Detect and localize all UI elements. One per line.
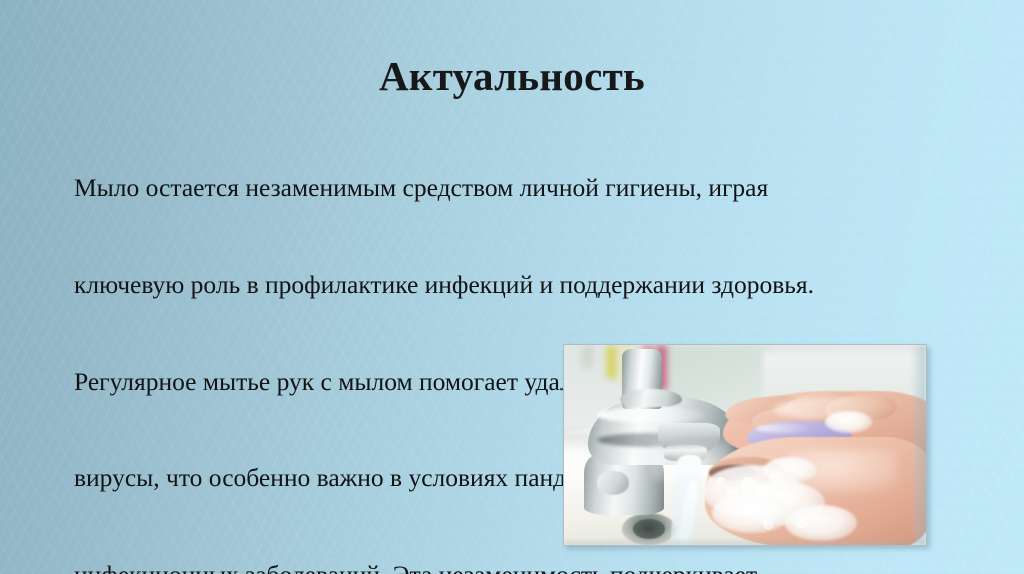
soap-foam bbox=[712, 493, 792, 533]
faucet-highlight bbox=[597, 407, 706, 423]
photo-background-item bbox=[582, 345, 593, 369]
body-line: Мыло остается незаменимым средством личн… bbox=[74, 172, 964, 204]
faucet-front-handle bbox=[597, 471, 630, 495]
body-line: ключевую роль в профилактике инфекций и … bbox=[74, 269, 964, 301]
page-title: Актуальность bbox=[0, 51, 1024, 101]
soap-foam bbox=[825, 411, 872, 433]
presentation-slide: Актуальность Мыло остается незаменимым с… bbox=[0, 0, 1024, 574]
soap-bar-highlight bbox=[756, 424, 814, 433]
faucet-lever bbox=[620, 389, 682, 407]
foam-bubble bbox=[781, 491, 794, 504]
foam-bubble bbox=[727, 489, 738, 500]
photo-right-edge bbox=[912, 345, 926, 545]
photo-background-item bbox=[606, 345, 618, 379]
sink-drain-inner bbox=[633, 519, 666, 539]
body-line: инфекционных заболеваний. Эта незаменимо… bbox=[74, 559, 964, 574]
handwashing-photo bbox=[563, 344, 927, 546]
foam-bubble bbox=[763, 519, 773, 529]
handwashing-photo-content bbox=[564, 345, 926, 545]
foam-bubble bbox=[756, 485, 768, 497]
photo-bottom-edge bbox=[564, 539, 926, 545]
